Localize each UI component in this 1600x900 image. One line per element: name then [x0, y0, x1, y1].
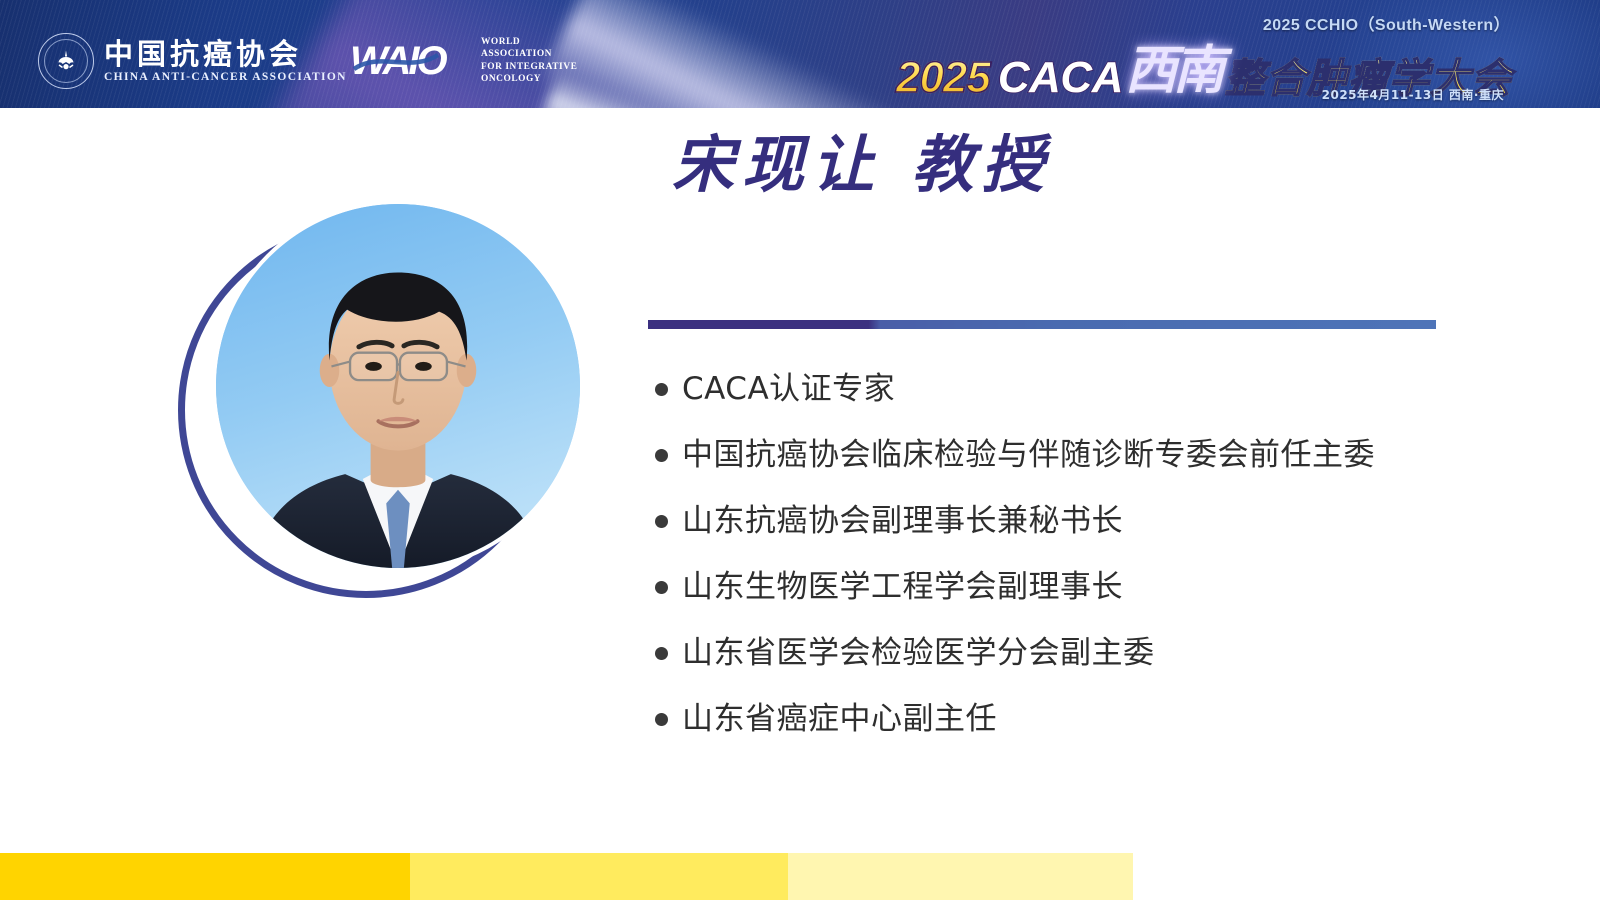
bullet-dot-icon [655, 713, 668, 726]
list-item-label: 山东省癌症中心副主任 [682, 700, 997, 739]
waio-logo: WAIO WORLD ASSOCIATION FOR INTEGRATIVE O… [352, 36, 577, 86]
header-banner: 中国抗癌协会 CHINA ANTI-CANCER ASSOCIATION WAI… [0, 0, 1600, 108]
portrait-block [178, 200, 598, 660]
list-item: 山东省医学会检验医学分会副主委 [655, 634, 1535, 700]
portrait-illustration [216, 204, 580, 568]
caca-logo-zh: 中国抗癌协会 [104, 39, 347, 70]
bullet-dot-icon [655, 383, 668, 396]
list-item-label: 山东生物医学工程学会副理事长 [682, 568, 1123, 607]
waio-subtitle-line2: ASSOCIATION [481, 48, 577, 60]
footer-color-bar [0, 853, 1600, 900]
waio-subtitle-line4: ONCOLOGY [481, 73, 577, 85]
caca-logo: 中国抗癌协会 CHINA ANTI-CANCER ASSOCIATION [38, 33, 347, 89]
conference-org: CACA [998, 53, 1123, 103]
footer-segment-2 [410, 853, 788, 900]
waio-wordmark-icon: WAIO [352, 39, 470, 83]
page-title: 宋现让 教授 [672, 134, 1052, 196]
caca-emblem-icon [54, 49, 78, 73]
caca-logo-en: CHINA ANTI-CANCER ASSOCIATION [104, 71, 347, 83]
waio-subtitle: WORLD ASSOCIATION FOR INTEGRATIVE ONCOLO… [481, 36, 577, 86]
portrait-photo [212, 200, 584, 572]
list-item: CACA认证专家 [655, 370, 1535, 436]
credentials-list: CACA认证专家 中国抗癌协会临床检验与伴随诊断专委会前任主委 山东抗癌协会副理… [655, 370, 1535, 766]
footer-segment-1 [0, 853, 410, 900]
bullet-dot-icon [655, 581, 668, 594]
waio-subtitle-line3: FOR INTEGRATIVE [481, 61, 577, 73]
footer-segment-3 [788, 853, 1133, 900]
conference-year: 2025 [896, 53, 990, 103]
main-content: 宋现让 教授 CACA认证专家 中国抗癌协会临床检验与伴随诊断专委会前任主委 山… [0, 108, 1600, 853]
list-item-label: 中国抗癌协会临床检验与伴随诊断专委会前任主委 [682, 436, 1375, 475]
list-item-label: 山东省医学会检验医学分会副主委 [682, 634, 1155, 673]
list-item: 中国抗癌协会临床检验与伴随诊断专委会前任主委 [655, 436, 1535, 502]
footer-segment-empty [1133, 853, 1600, 900]
list-item: 山东生物医学工程学会副理事长 [655, 568, 1535, 634]
bullet-dot-icon [655, 515, 668, 528]
caca-seal-icon [38, 33, 94, 89]
conference-date-location: 2025年4月11-13日 西南·重庆 [1322, 86, 1504, 103]
list-item-label: 山东抗癌协会副理事长兼秘书长 [682, 502, 1123, 541]
bullet-dot-icon [655, 449, 668, 462]
list-item-label: CACA认证专家 [682, 370, 895, 409]
bullet-dot-icon [655, 647, 668, 660]
waio-subtitle-line1: WORLD [481, 36, 577, 48]
title-divider [648, 320, 1436, 329]
conference-cursive-region: 西南 [1125, 28, 1221, 103]
list-item: 山东省癌症中心副主任 [655, 700, 1535, 766]
list-item: 山东抗癌协会副理事长兼秘书长 [655, 502, 1535, 568]
